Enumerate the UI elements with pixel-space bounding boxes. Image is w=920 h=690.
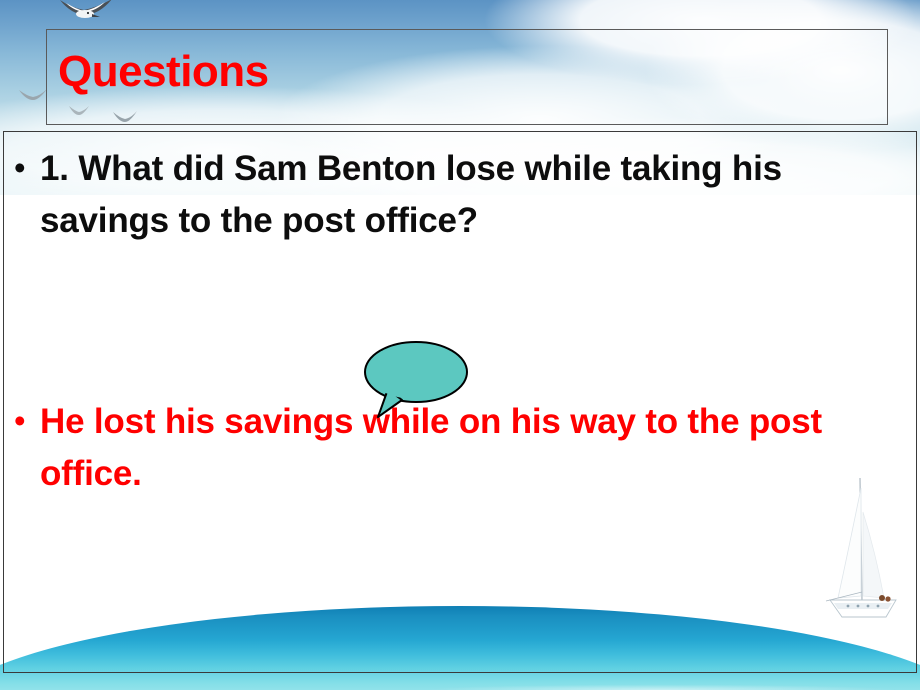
seagull-icon xyxy=(58,0,114,30)
title-placeholder[interactable]: Questions xyxy=(46,29,888,125)
seagull-icon xyxy=(18,88,48,104)
speech-bubble-icon xyxy=(358,338,470,418)
page-title: Questions xyxy=(58,47,269,97)
answer-text: He lost his savings while on his way to … xyxy=(40,396,902,500)
slide-canvas: Questions • 1. What did Sam Benton lose … xyxy=(0,0,920,690)
question-text: 1. What did Sam Benton lose while taking… xyxy=(40,143,912,247)
bullet-glyph: • xyxy=(12,396,40,446)
bullet-glyph: • xyxy=(12,143,40,193)
question-bullet-item: • 1. What did Sam Benton lose while taki… xyxy=(12,143,912,247)
